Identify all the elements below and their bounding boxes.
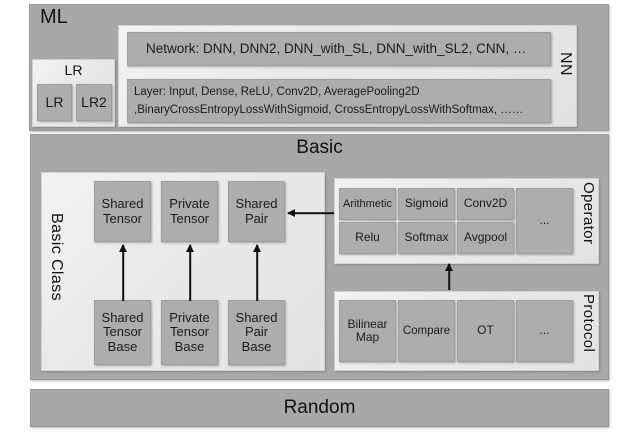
- lr-item-lr2-label: LR2: [81, 95, 107, 111]
- class-shared-tensor-base-line1: Shared: [102, 311, 144, 326]
- class-shared-tensor-base[interactable]: Shared Tensor Base: [94, 300, 151, 365]
- operator-sigmoid-label: Sigmoid: [405, 197, 448, 210]
- class-private-tensor-base-line1: Private: [169, 311, 209, 326]
- operator-arithmetic[interactable]: Arithmetic: [339, 188, 396, 220]
- arrow-protocol-to-operator: [444, 264, 454, 290]
- class-private-tensor-line2: Tensor: [170, 212, 209, 227]
- group-operator-label: Operator: [580, 182, 597, 244]
- class-shared-pair-line2: Pair: [245, 212, 268, 227]
- layer-basic-label: Basic: [30, 137, 609, 159]
- operator-softmax-label: Softmax: [404, 231, 448, 244]
- lr-item-lr[interactable]: LR: [37, 84, 72, 121]
- nn-network-row[interactable]: Network: DNN, DNN2, DNN_with_SL, DNN_wit…: [127, 32, 551, 66]
- operator-relu[interactable]: Relu: [339, 222, 396, 254]
- class-shared-pair[interactable]: Shared Pair: [228, 181, 285, 242]
- operator-avgpool-label: Avgpool: [464, 231, 507, 244]
- nn-network-row-text: Network: DNN, DNN2, DNN_with_SL, DNN_wit…: [146, 41, 526, 56]
- operator-conv2d[interactable]: Conv2D: [457, 188, 514, 220]
- operator-more[interactable]: ...: [516, 188, 573, 254]
- operator-softmax[interactable]: Softmax: [398, 222, 455, 254]
- arrow-shared-tensor-base-to-shared-tensor: [118, 245, 128, 301]
- class-shared-pair-line1: Shared: [236, 197, 278, 212]
- group-lr-label: LR: [32, 62, 115, 78]
- class-private-tensor-base-line2: Tensor: [170, 325, 209, 340]
- group-protocol-label: Protocol: [580, 294, 597, 352]
- arrow-operator-to-basic-class: [288, 208, 338, 218]
- group-nn-label: NN: [556, 52, 574, 76]
- layer-ml-label: ML: [40, 6, 68, 29]
- protocol-bilinear-map-line1: Bilinear: [347, 318, 387, 331]
- operator-more-label: ...: [539, 214, 549, 227]
- protocol-bilinear-map[interactable]: Bilinear Map: [339, 300, 396, 362]
- arrow-private-tensor-base-to-private-tensor: [185, 245, 195, 301]
- class-private-tensor-line1: Private: [169, 197, 209, 212]
- lr-item-lr-label: LR: [46, 95, 64, 111]
- nn-layer-row-line2: ,BinaryCrossEntropyLossWithSigmoid, Cros…: [134, 102, 523, 120]
- operator-avgpool[interactable]: Avgpool: [457, 222, 514, 254]
- class-private-tensor-base-line3: Base: [175, 340, 205, 355]
- nn-layer-row[interactable]: Layer: Input, Dense, ReLU, Conv2D, Avera…: [127, 79, 551, 123]
- class-shared-tensor-line1: Shared: [102, 197, 144, 212]
- operator-relu-label: Relu: [355, 231, 380, 244]
- protocol-more-label: ...: [539, 324, 549, 337]
- class-private-tensor[interactable]: Private Tensor: [161, 181, 218, 242]
- class-shared-pair-base[interactable]: Shared Pair Base: [228, 300, 285, 365]
- class-shared-tensor[interactable]: Shared Tensor: [94, 181, 151, 242]
- architecture-diagram: ML LR LR LR2 NN Network: DNN, DNN2, DNN_…: [0, 0, 640, 435]
- protocol-ot[interactable]: OT: [457, 300, 514, 362]
- lr-item-lr2[interactable]: LR2: [76, 84, 112, 121]
- arrow-shared-pair-base-to-shared-pair: [252, 245, 262, 301]
- class-shared-tensor-base-line3: Base: [108, 340, 138, 355]
- class-shared-pair-base-line3: Base: [242, 340, 272, 355]
- class-shared-tensor-line2: Tensor: [103, 212, 142, 227]
- operator-sigmoid[interactable]: Sigmoid: [398, 188, 455, 220]
- class-shared-pair-base-line2: Pair: [245, 325, 268, 340]
- class-private-tensor-base[interactable]: Private Tensor Base: [161, 300, 218, 365]
- protocol-bilinear-map-line2: Map: [356, 331, 379, 344]
- protocol-compare[interactable]: Compare: [398, 300, 455, 362]
- operator-arithmetic-label: Arithmetic: [343, 198, 392, 210]
- protocol-more[interactable]: ...: [516, 300, 573, 362]
- operator-conv2d-label: Conv2D: [464, 197, 507, 210]
- group-basic-class-label: Basic Class: [47, 213, 65, 301]
- class-shared-tensor-base-line2: Tensor: [103, 325, 142, 340]
- protocol-ot-label: OT: [477, 324, 494, 337]
- layer-random-label: Random: [30, 397, 609, 419]
- protocol-compare-label: Compare: [403, 325, 450, 338]
- class-shared-pair-base-line1: Shared: [236, 311, 278, 326]
- nn-layer-row-line1: Layer: Input, Dense, ReLU, Conv2D, Avera…: [134, 84, 420, 102]
